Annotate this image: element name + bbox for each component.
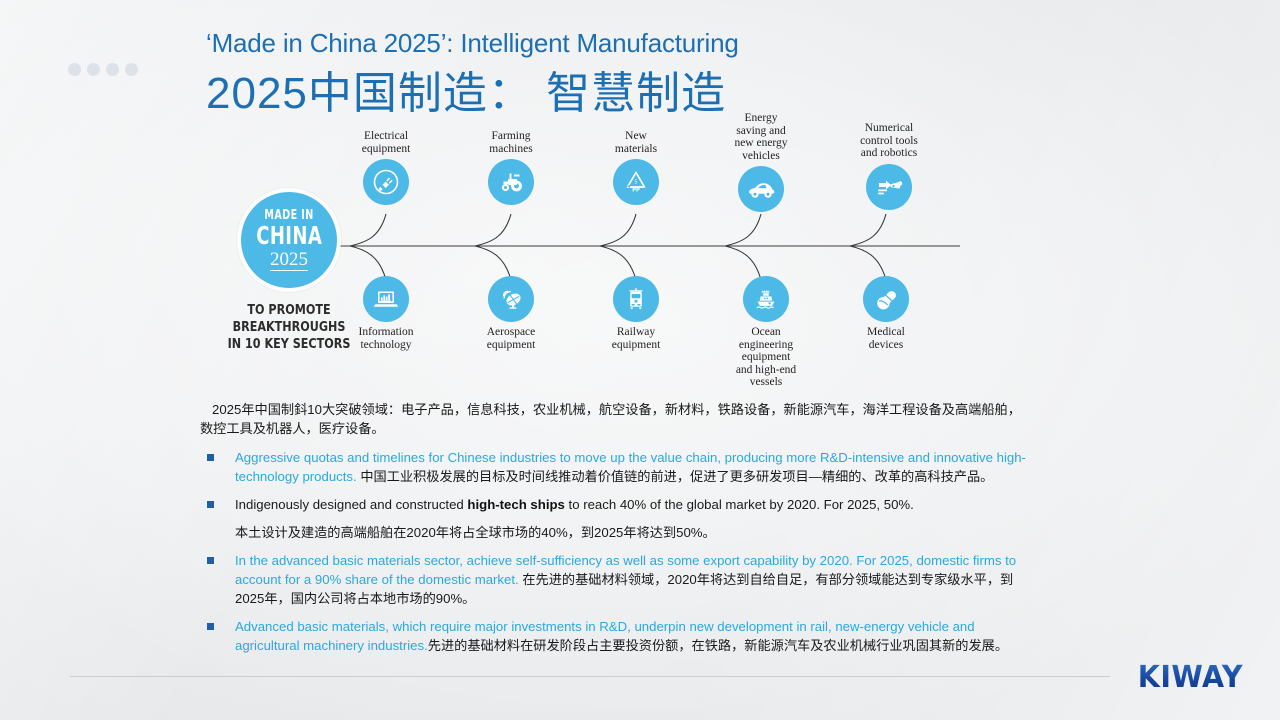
laptop-chart-icon: [363, 276, 409, 322]
node-information-technology[interactable]: Information technology: [331, 276, 441, 351]
kiway-logo: KIWAY: [1138, 660, 1243, 695]
bullet-marker: [207, 501, 214, 508]
node-new-materials[interactable]: New materials 5 PP: [581, 130, 691, 205]
badge-line-2: CHINA: [256, 223, 322, 249]
bullet-item: Indigenously designed and constructed hi…: [200, 495, 1030, 542]
bullet-chinese: 中国工业积极发展的目标及时间线推动着价值链的前进，促进了更多研发项目—精细的、改…: [360, 469, 993, 484]
intro-paragraph-chinese: 2025年中国制鈄10大突破领域：电子产品，信息科技，农业机械，航空设备，新材料…: [200, 400, 1030, 438]
node-label: Medical devices: [831, 326, 941, 351]
bullet-item: In the advanced basic materials sector, …: [200, 551, 1030, 608]
node-label: Ocean engineering equipment and high-end…: [706, 326, 826, 389]
bullet-item: Advanced basic materials, which require …: [200, 617, 1030, 655]
node-label: New materials: [581, 130, 691, 155]
bullet-english: Indigenously designed and constructed: [235, 497, 467, 512]
node-energy-saving-vehicles[interactable]: Energy saving and new energy vehicles: [706, 112, 816, 212]
badge-line-3: 2025: [270, 250, 308, 271]
car-icon: [738, 166, 784, 212]
body-text: 2025年中国制鈄10大突破领域：电子产品，信息科技，农业机械，航空设备，新材料…: [200, 400, 1030, 664]
bullet-body: Advanced basic materials, which require …: [235, 617, 1030, 655]
node-label: Aerospace equipment: [456, 326, 566, 351]
node-label: Railway equipment: [581, 326, 691, 351]
svg-text:5: 5: [634, 179, 637, 185]
bullet-marker: [207, 454, 214, 461]
fishbone-infographic: MADE IN CHINA 2025 TO PROMOTE BREAKTHROU…: [200, 118, 1000, 383]
pills-icon: [863, 276, 909, 322]
bullet-body: In the advanced basic materials sector, …: [235, 551, 1030, 608]
power-plug-icon: [363, 159, 409, 205]
node-ocean-engineering[interactable]: Ocean engineering equipment and high-end…: [706, 276, 826, 389]
node-label: Energy saving and new energy vehicles: [706, 112, 816, 162]
bullet-chinese: 本土设计及建造的高端船舶在2020年将占全球市场的40%，到2025年将达到50…: [235, 523, 1030, 542]
slide-title-chinese: 2025中国制造： 智慧制造: [206, 57, 726, 121]
bullet-english-bold: high-tech ships: [467, 497, 564, 512]
node-medical-devices[interactable]: Medical devices: [831, 276, 941, 351]
node-label: Numerical control tools and robotics: [831, 122, 947, 160]
node-label: Farming machines: [456, 130, 566, 155]
decor-dot: [87, 63, 100, 76]
badge-circle: MADE IN CHINA 2025: [237, 188, 341, 292]
bullet-marker: [207, 557, 214, 564]
decorative-dots: [68, 63, 138, 76]
bullet-item: Aggressive quotas and timelines for Chin…: [200, 448, 1030, 486]
node-label: Information technology: [331, 326, 441, 351]
node-railway-equipment[interactable]: Railway equipment: [581, 276, 691, 351]
bullet-chinese: 先进的基础材料在研发阶段占主要投资份额，在铁路，新能源汽车及农业机械行业巩固其新…: [428, 638, 1008, 653]
bullet-marker: [207, 623, 214, 630]
decor-dot: [106, 63, 119, 76]
footer-divider: [70, 676, 1110, 677]
recycle-pp-icon: 5 PP: [613, 159, 659, 205]
bullet-english-tail: to reach 40% of the global market by 202…: [565, 497, 914, 512]
node-aerospace-equipment[interactable]: Aerospace equipment: [456, 276, 566, 351]
bullet-body: Indigenously designed and constructed hi…: [235, 495, 1030, 542]
node-label: Electrical equipment: [331, 130, 441, 155]
slide-title-english: ‘Made in China 2025’: Intelligent Manufa…: [206, 28, 739, 59]
decor-dot: [125, 63, 138, 76]
node-numerical-control-robotics[interactable]: Numerical control tools and robotics: [831, 122, 947, 210]
robot-arm-icon: [866, 164, 912, 210]
decor-dot: [68, 63, 81, 76]
train-icon: [613, 276, 659, 322]
ship-icon: [743, 276, 789, 322]
node-farming-machines[interactable]: Farming machines: [456, 130, 566, 205]
svg-text:PP: PP: [632, 188, 640, 194]
bullet-body: Aggressive quotas and timelines for Chin…: [235, 448, 1030, 486]
tractor-icon: [488, 159, 534, 205]
satellite-dish-icon: [488, 276, 534, 322]
node-electrical-equipment[interactable]: Electrical equipment: [331, 130, 441, 205]
